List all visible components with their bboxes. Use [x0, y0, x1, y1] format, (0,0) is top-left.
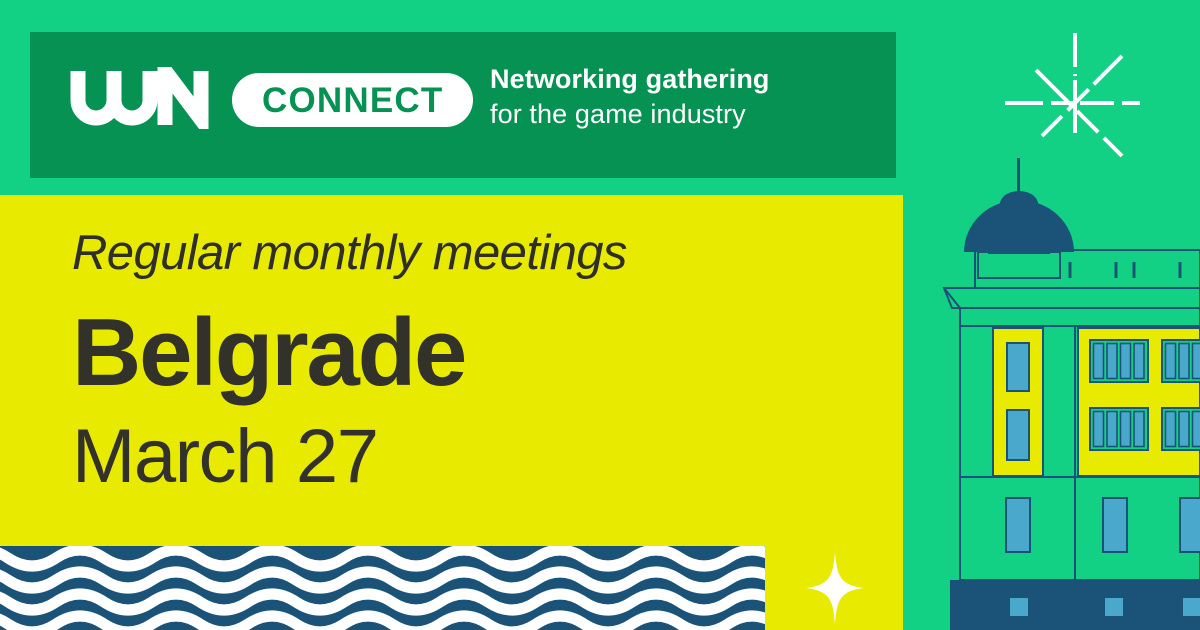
wave-pattern: [0, 546, 765, 630]
starburst-icon: [1000, 28, 1150, 173]
event-city: Belgrade: [72, 303, 465, 404]
tagline-line-1: Networking gathering: [490, 62, 770, 97]
classical-building-illustration: [900, 140, 1200, 630]
tagline-line-2: for the game industry: [490, 97, 770, 132]
connect-pill[interactable]: CONNECT: [232, 73, 473, 127]
connect-label: CONNECT: [262, 83, 443, 118]
logo-lockup[interactable]: CONNECT: [70, 60, 473, 140]
promo-banner: CONNECT Networking gathering for the gam…: [0, 0, 1200, 630]
event-kicker: Regular monthly meetings: [72, 225, 627, 281]
four-point-star-icon: [806, 552, 864, 629]
event-date: March 27: [72, 417, 378, 497]
wn-logo-mark[interactable]: [70, 67, 210, 134]
tagline: Networking gathering for the game indust…: [490, 62, 770, 131]
